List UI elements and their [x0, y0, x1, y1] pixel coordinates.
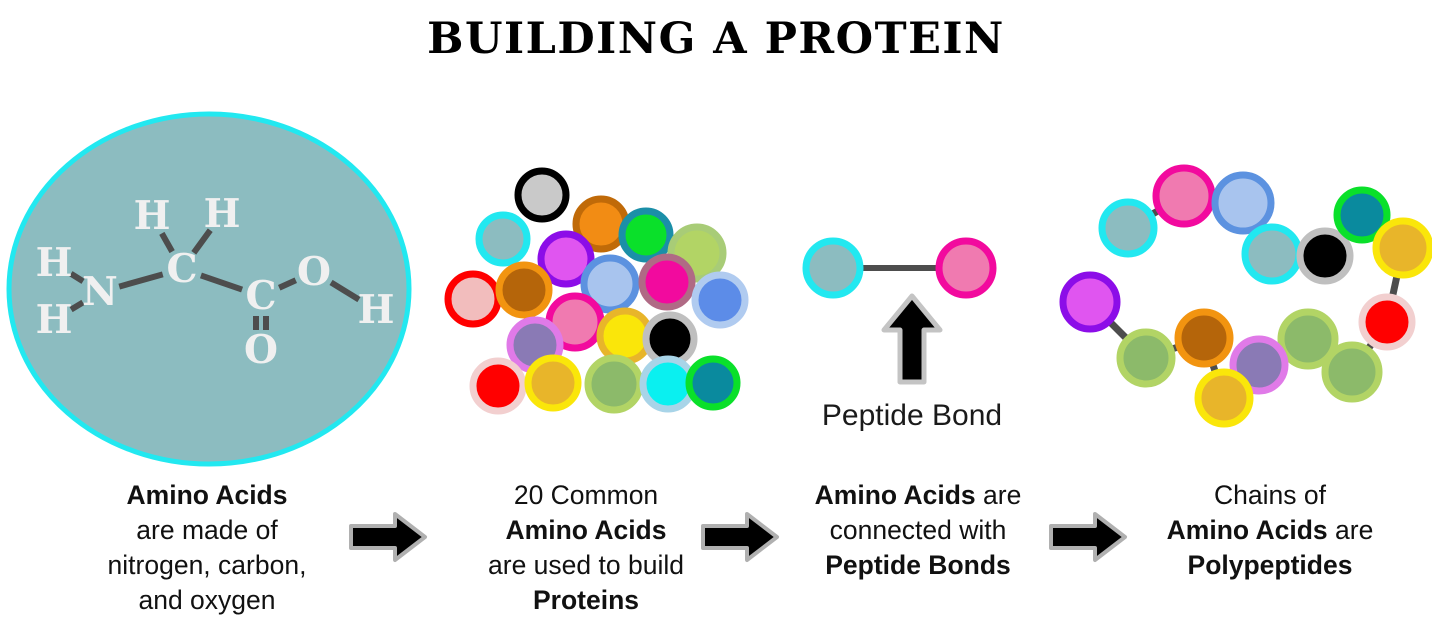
polypeptide-nodes — [1063, 168, 1430, 424]
caption-emphasis: Amino Acids — [1167, 515, 1328, 545]
amino-acid-molecule-group: HHNCHHCOOH — [9, 114, 409, 464]
arrow-right-icon — [700, 510, 780, 564]
caption-emphasis: Amino Acids — [127, 480, 288, 510]
polypeptide-node-3 — [1245, 227, 1299, 281]
amino-acid-circle-17 — [588, 358, 640, 410]
caption-text: are used to build — [488, 550, 684, 580]
caption-polypeptides: Chains ofAmino Acids arePolypeptides — [1110, 478, 1430, 583]
caption-text: 20 Common — [514, 480, 658, 510]
polypeptide-group — [1063, 168, 1430, 424]
polypeptide-node-2 — [1215, 175, 1271, 231]
caption-text: nitrogen, carbon, — [108, 550, 307, 580]
polypeptide-node-11 — [1198, 372, 1250, 424]
caption-text: are made of — [136, 515, 277, 545]
caption-amino-acids-composition-line-1: are made of — [42, 513, 372, 548]
caption-text: and oxygen — [138, 585, 275, 615]
atom-label-H2: H — [36, 297, 73, 343]
amino-acid-circle-7 — [499, 265, 549, 315]
polypeptide-node-9 — [1281, 312, 1335, 366]
amino-acid-circle-19 — [689, 359, 737, 407]
amino-acid-cluster — [448, 171, 745, 411]
caption-20-common-line-0: 20 Common — [436, 478, 736, 513]
polypeptide-node-7 — [1362, 297, 1412, 347]
caption-text: Chains of — [1214, 480, 1326, 510]
atom-label-O1: O — [244, 327, 278, 373]
caption-amino-acids-composition: Amino Acidsare made ofnitrogen, carbon,a… — [42, 478, 372, 618]
atom-label-H1: H — [36, 240, 73, 286]
peptide-bond-group: Peptide Bond — [806, 241, 1002, 432]
caption-amino-acids-composition-line-2: nitrogen, carbon, — [42, 548, 372, 583]
polypeptide-node-6 — [1376, 221, 1430, 275]
amino-acid-circle-1 — [479, 215, 527, 263]
caption-20-common-line-2: are used to build — [436, 548, 736, 583]
amino-acid-circle-16 — [528, 358, 578, 408]
arrow-right-icon — [1048, 510, 1128, 564]
atom-label-C2: C — [245, 273, 276, 319]
caption-amino-acids-composition-line-3: and oxygen — [42, 583, 372, 618]
step-arrow-2 — [700, 510, 780, 564]
polypeptide-node-14 — [1063, 275, 1117, 329]
amino-acid-circle-3 — [622, 211, 670, 259]
atom-label-C1: C — [166, 246, 197, 292]
polypeptide-node-13 — [1120, 332, 1172, 384]
caption-polypeptides-line-0: Chains of — [1110, 478, 1430, 513]
caption-20-common-line-1: Amino Acids — [436, 513, 736, 548]
caption-emphasis: Polypeptides — [1188, 550, 1353, 580]
caption-20-common: 20 CommonAmino Acidsare used to buildPro… — [436, 478, 736, 618]
amino-acid-circle-13 — [600, 311, 650, 361]
atom-label-H4: H — [204, 191, 241, 237]
atom-label-O2: O — [297, 249, 331, 295]
polypeptide-node-0 — [1102, 202, 1154, 254]
caption-text: connected with — [830, 515, 1007, 545]
polypeptide-node-12 — [1178, 312, 1230, 364]
step-arrow-1 — [348, 510, 428, 564]
caption-peptide-bonds-line-0: Amino Acids are — [772, 478, 1064, 513]
amino-acid-circle-15 — [473, 361, 523, 411]
amino-acid-circle-6 — [448, 274, 498, 324]
caption-peptide-bonds-line-1: connected with — [772, 513, 1064, 548]
atom-label-N: N — [82, 269, 118, 315]
caption-emphasis: Amino Acids — [506, 515, 667, 545]
amino-acid-circle-18 — [643, 359, 693, 409]
caption-emphasis: Peptide Bonds — [825, 550, 1011, 580]
step-arrow-3 — [1048, 510, 1128, 564]
amino-acid-circle-9 — [642, 257, 692, 307]
caption-emphasis: Amino Acids — [815, 480, 976, 510]
caption-peptide-bonds: Amino Acids areconnected withPeptide Bon… — [772, 478, 1064, 583]
caption-text: are — [1328, 515, 1374, 545]
amino-acid-circle-0 — [518, 171, 566, 219]
caption-polypeptides-line-2: Polypeptides — [1110, 548, 1430, 583]
caption-peptide-bonds-line-2: Peptide Bonds — [772, 548, 1064, 583]
atom-label-H5: H — [358, 287, 395, 333]
polypeptide-node-4 — [1300, 231, 1350, 281]
caption-polypeptides-line-1: Amino Acids are — [1110, 513, 1430, 548]
peptide-left-amino-acid — [806, 241, 860, 295]
amino-acid-circle-10 — [695, 275, 745, 325]
diagram-svg: HHNCHHCOOH Peptide Bond — [0, 0, 1432, 470]
peptide-bond-pointer-arrow — [884, 296, 940, 382]
molecule-background-circle — [9, 114, 409, 464]
arrow-right-icon — [348, 510, 428, 564]
peptide-right-amino-acid — [939, 241, 993, 295]
polypeptide-node-1 — [1156, 168, 1212, 224]
caption-text: are — [976, 480, 1022, 510]
caption-20-common-line-3: Proteins — [436, 583, 736, 618]
diagram-stage: HHNCHHCOOH Peptide Bond — [0, 0, 1432, 470]
atom-label-H3: H — [134, 193, 171, 239]
peptide-bond-label: Peptide Bond — [822, 399, 1002, 432]
caption-emphasis: Proteins — [533, 585, 639, 615]
caption-amino-acids-composition-line-0: Amino Acids — [42, 478, 372, 513]
